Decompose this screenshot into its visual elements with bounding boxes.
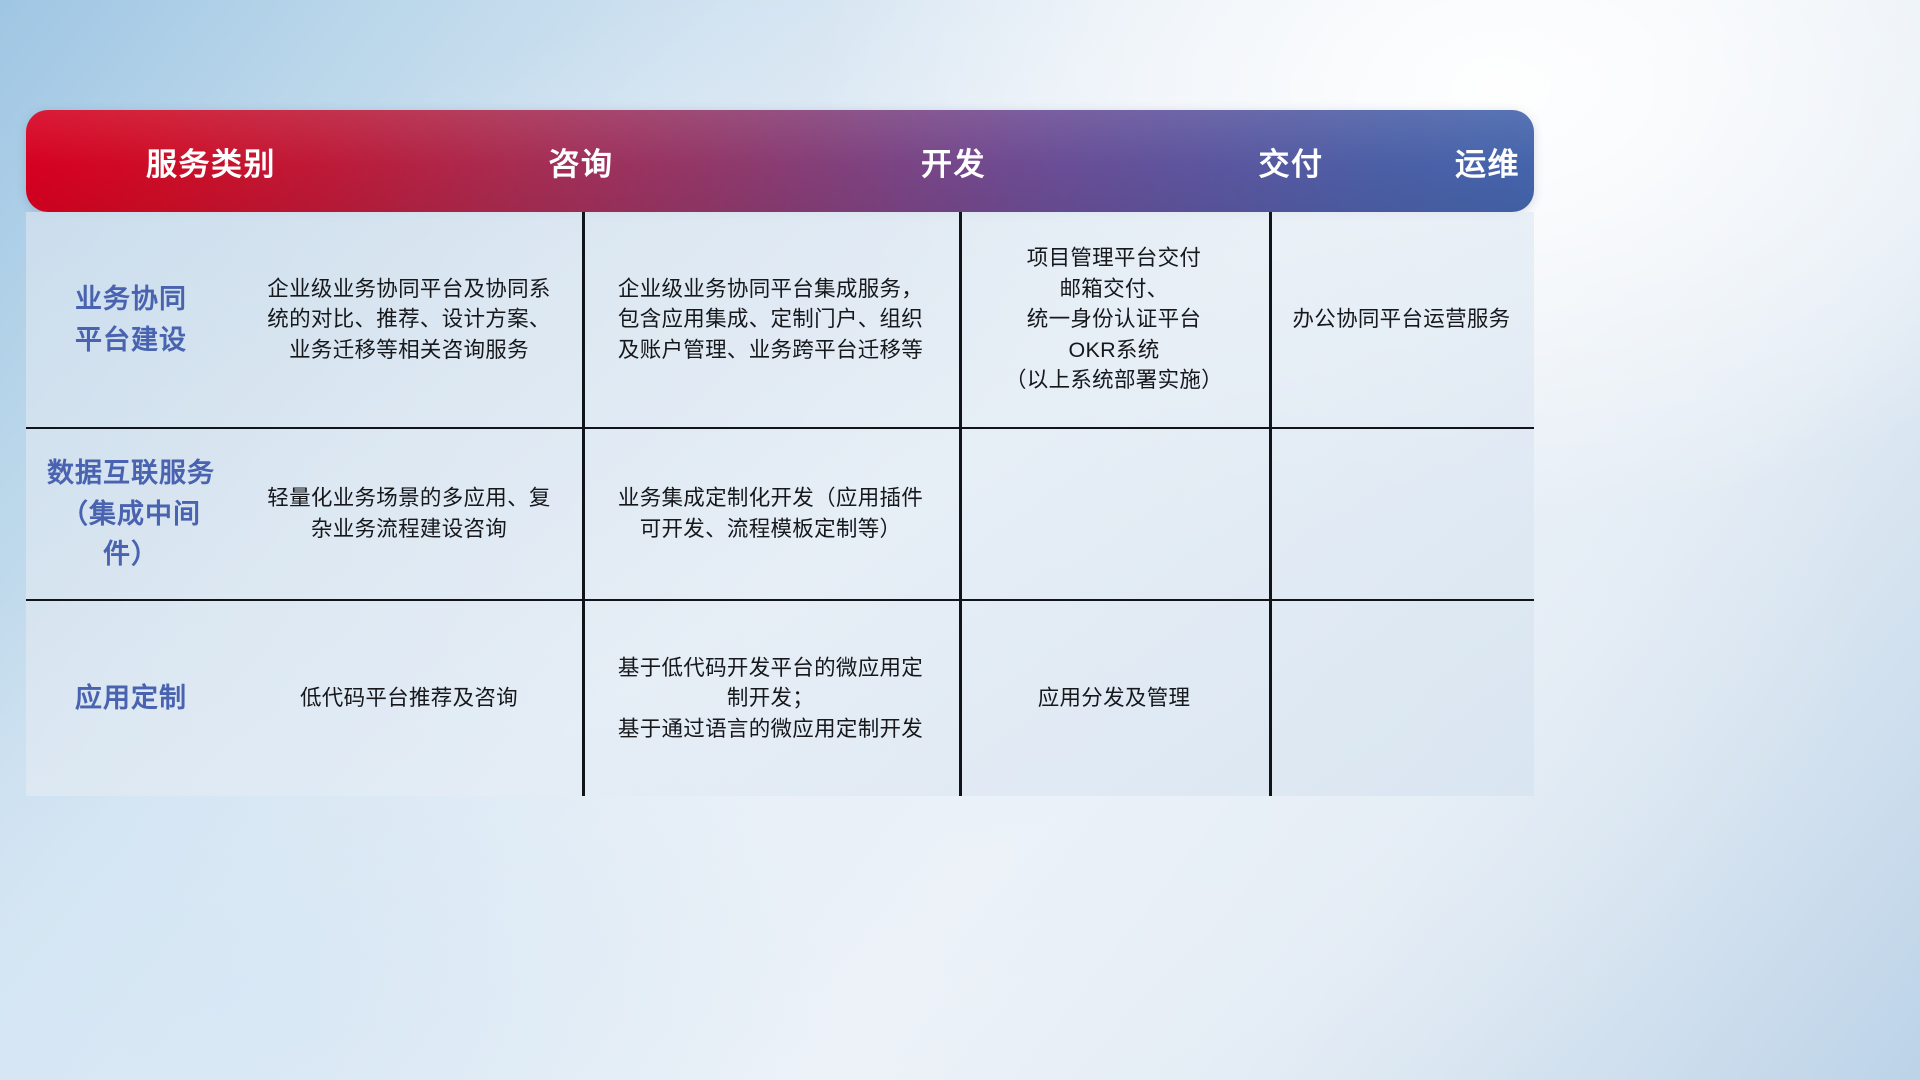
cell-development: 基于低代码开发平台的微应用定 制开发； 基于通过语言的微应用定制开发 bbox=[582, 601, 959, 796]
row-category-label: 数据互联服务 （集成中间件） bbox=[26, 429, 236, 599]
column-divider-3 bbox=[1269, 212, 1272, 796]
column-header-consulting: 咨询 bbox=[396, 139, 766, 184]
table-row: 应用定制 低代码平台推荐及咨询 基于低代码开发平台的微应用定 制开发； 基于通过… bbox=[26, 599, 1534, 796]
service-matrix-table: 服务类别 咨询 开发 交付 运维 业务协同 平台建设 企业级业务协同平台及协同系… bbox=[26, 110, 1534, 773]
cell-development: 业务集成定制化开发（应用插件 可开发、流程模板定制等） bbox=[582, 429, 959, 599]
table-row: 数据互联服务 （集成中间件） 轻量化业务场景的多应用、复 杂业务流程建设咨询 业… bbox=[26, 427, 1534, 599]
cell-delivery: 应用分发及管理 bbox=[959, 601, 1269, 796]
column-header-category: 服务类别 bbox=[26, 139, 396, 184]
cell-delivery bbox=[959, 429, 1269, 599]
cell-operations: 办公协同平台运营服务 bbox=[1269, 212, 1534, 427]
row-category-label: 应用定制 bbox=[26, 601, 236, 796]
column-header-development: 开发 bbox=[766, 139, 1141, 184]
column-header-delivery: 交付 bbox=[1141, 139, 1441, 184]
column-divider-2 bbox=[959, 212, 962, 796]
cell-consulting: 轻量化业务场景的多应用、复 杂业务流程建设咨询 bbox=[236, 429, 582, 599]
cell-consulting: 低代码平台推荐及咨询 bbox=[236, 601, 582, 796]
table-row: 业务协同 平台建设 企业级业务协同平台及协同系 统的对比、推荐、设计方案、 业务… bbox=[26, 212, 1534, 427]
cell-development: 企业级业务协同平台集成服务， 包含应用集成、定制门户、组织 及账户管理、业务跨平… bbox=[582, 212, 959, 427]
column-header-operations: 运维 bbox=[1441, 139, 1534, 184]
table-header-row: 服务类别 咨询 开发 交付 运维 bbox=[26, 110, 1534, 212]
cell-delivery: 项目管理平台交付 邮箱交付、 统一身份认证平台 OKR系统 （以上系统部署实施） bbox=[959, 212, 1269, 427]
row-category-label: 业务协同 平台建设 bbox=[26, 212, 236, 427]
cell-consulting: 企业级业务协同平台及协同系 统的对比、推荐、设计方案、 业务迁移等相关咨询服务 bbox=[236, 212, 582, 427]
cell-operations bbox=[1269, 429, 1534, 599]
table-body: 业务协同 平台建设 企业级业务协同平台及协同系 统的对比、推荐、设计方案、 业务… bbox=[26, 212, 1534, 796]
cell-operations bbox=[1269, 601, 1534, 796]
column-divider-1 bbox=[582, 212, 585, 796]
